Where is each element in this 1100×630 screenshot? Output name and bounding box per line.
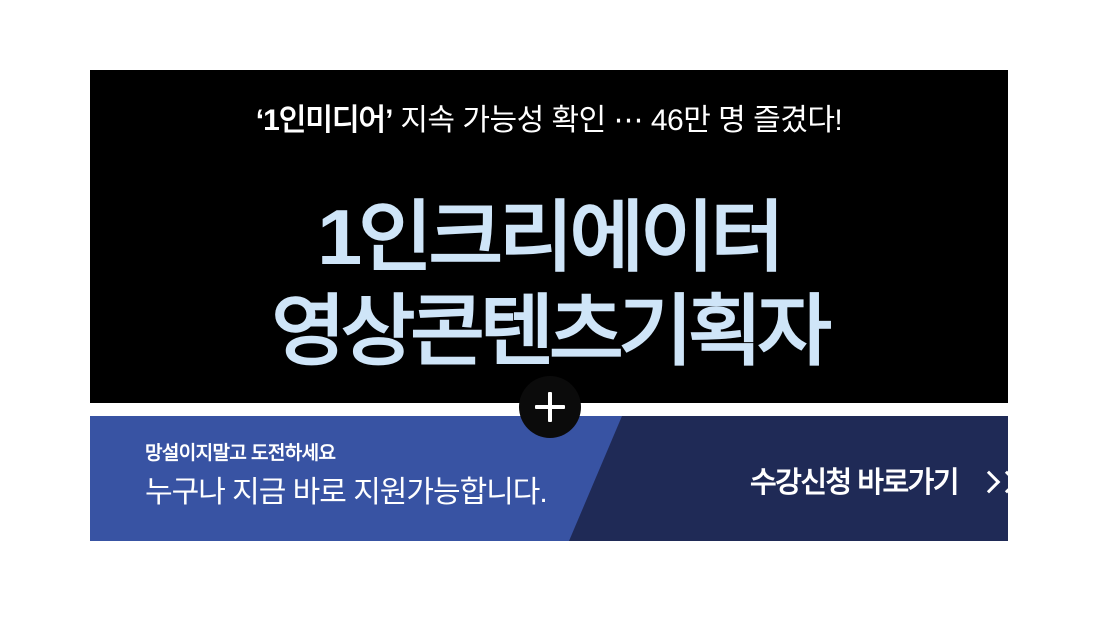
cta-message-block: 망설이지말고 도전하세요 누구나 지금 바로 지원가능합니다. xyxy=(145,441,547,513)
hero-panel: ‘1인미디어’ 지속 가능성 확인 ⋯ 46만 명 즐겼다! 1인크리에이터 영… xyxy=(90,70,1008,403)
promo-banner: ‘1인미디어’ 지속 가능성 확인 ⋯ 46만 명 즐겼다! 1인크리에이터 영… xyxy=(0,0,1100,630)
plus-icon xyxy=(519,376,581,438)
plus-icon-vertical-bar xyxy=(548,392,552,422)
chevron-right-icon xyxy=(998,470,1008,496)
hero-title-line-1: 1인크리에이터 xyxy=(90,190,1008,284)
hero-title-line-2: 영상콘텐츠기획자 xyxy=(90,284,1008,378)
hero-eyebrow-emphasis: ‘1인미디어’ xyxy=(256,104,393,137)
cta-kicker: 망설이지말고 도전하세요 xyxy=(145,441,547,467)
apply-now-label: 수강신청 바로가기 xyxy=(750,466,958,500)
page-title: 1인크리에이터 영상콘텐츠기획자 xyxy=(90,190,1008,378)
apply-now-button[interactable]: 수강신청 바로가기 xyxy=(750,466,1008,500)
hero-eyebrow-rest: 지속 가능성 확인 ⋯ 46만 명 즐겼다! xyxy=(393,104,843,137)
cta-headline: 누구나 지금 바로 지원가능합니다. xyxy=(145,473,547,513)
chevron-group xyxy=(980,470,1008,496)
chevron-right-icon xyxy=(980,470,995,496)
hero-eyebrow: ‘1인미디어’ 지속 가능성 확인 ⋯ 46만 명 즐겼다! xyxy=(90,102,1008,140)
